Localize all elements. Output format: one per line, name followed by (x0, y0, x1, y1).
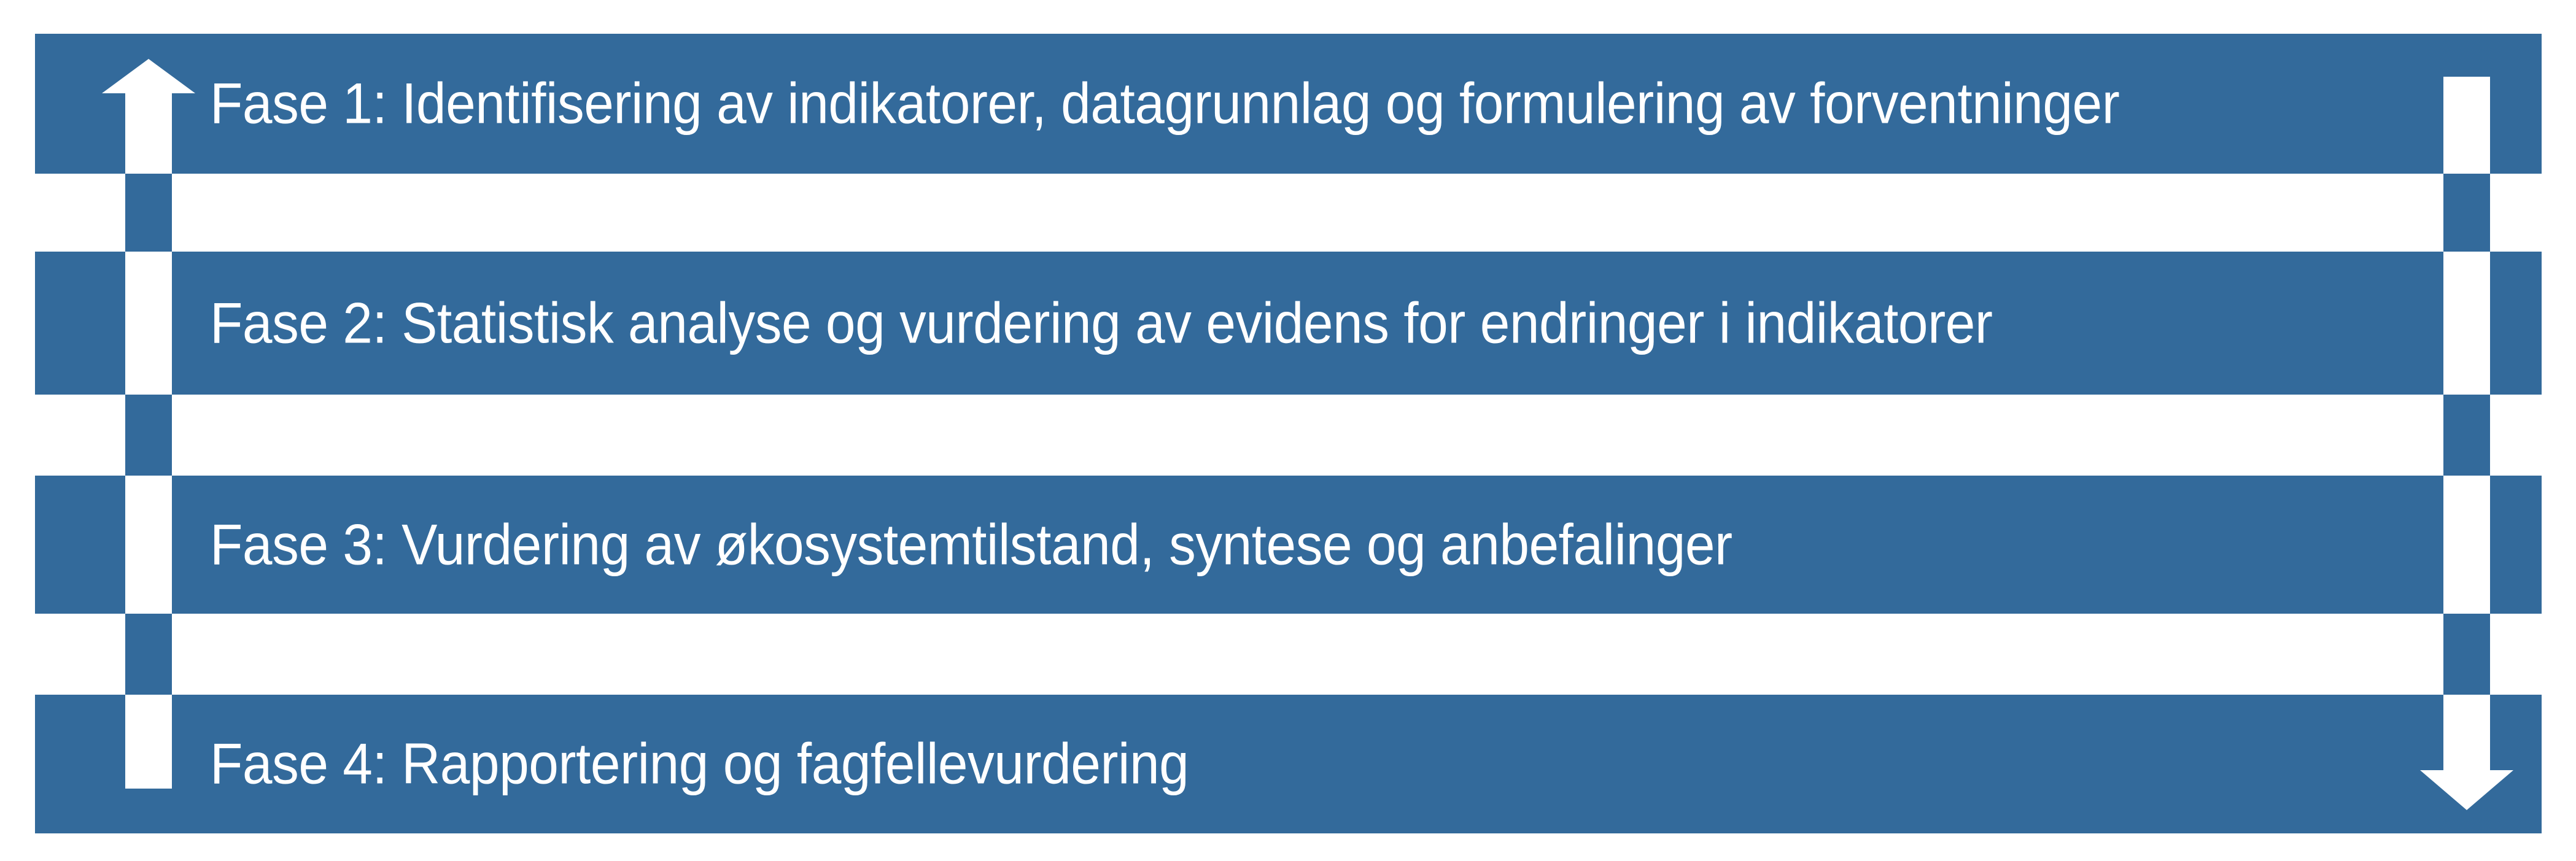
phase-bar-2[interactable]: Fase 2: Statistisk analyse og vurdering … (35, 252, 2542, 395)
phase-bar-3[interactable]: Fase 3: Vurdering av økosystemtilstand, … (35, 476, 2542, 614)
phase-bar-1[interactable]: Fase 1: Identifisering av indikatorer, d… (35, 34, 2542, 174)
phase-2-label: Fase 2: Statistisk analyse og vurdering … (210, 293, 2293, 353)
phase-bar-4[interactable]: Fase 4: Rapportering og fagfellevurderin… (35, 695, 2542, 833)
phase-1-label: Fase 1: Identifisering av indikatorer, d… (210, 74, 2293, 134)
phase-4-label: Fase 4: Rapportering og fagfellevurderin… (210, 734, 2293, 795)
process-diagram: Fase 1: Identifisering av indikatorer, d… (0, 0, 2576, 861)
phase-3-label: Fase 3: Vurdering av økosystemtilstand, … (210, 514, 2293, 575)
